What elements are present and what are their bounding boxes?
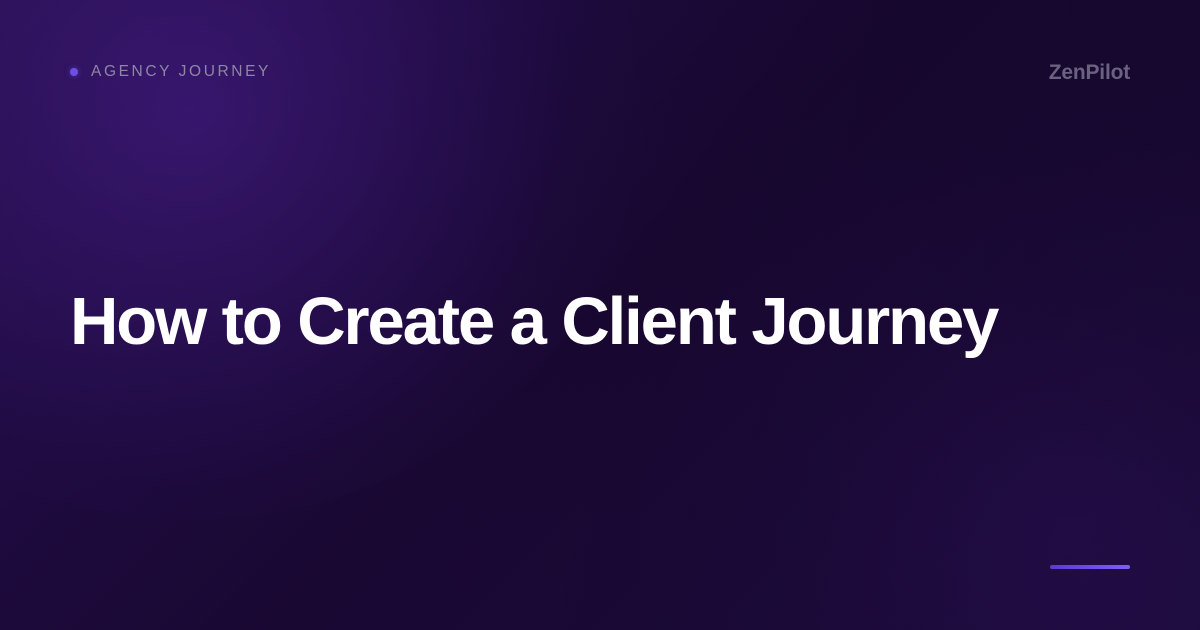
brand-wordmark: ZenPilot xyxy=(1049,62,1130,83)
social-card: AGENCY JOURNEY ZenPilot How to Create a … xyxy=(0,0,1200,630)
eyebrow-label: AGENCY JOURNEY xyxy=(91,64,271,80)
accent-bar xyxy=(1050,565,1130,569)
headline-container: How to Create a Client Journey xyxy=(70,286,1110,358)
card-content: AGENCY JOURNEY ZenPilot How to Create a … xyxy=(0,0,1200,630)
eyebrow-group: AGENCY JOURNEY xyxy=(70,64,271,80)
bullet-dot-icon xyxy=(70,68,78,76)
card-header-row: AGENCY JOURNEY ZenPilot xyxy=(70,58,1130,86)
page-title: How to Create a Client Journey xyxy=(70,286,1110,358)
